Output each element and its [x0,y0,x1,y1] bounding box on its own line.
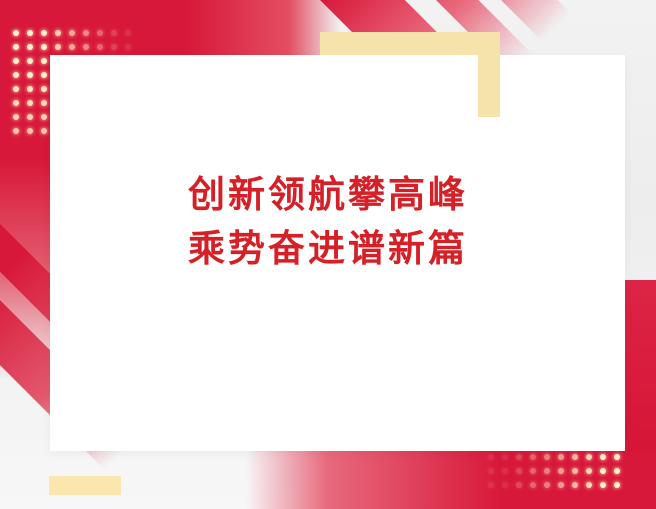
title-line-2: 乘势奋进谱新篇 [0,222,656,276]
top-left-red-bar [0,0,340,58]
gold-chip-accent [49,476,121,495]
bottom-right-red-panel [246,451,656,509]
poster-canvas: 创新领航攀高峰 乘势奋进谱新篇 [0,0,656,509]
title-line-1: 创新领航攀高峰 [0,168,656,222]
poster-title: 创新领航攀高峰 乘势奋进谱新篇 [0,168,656,276]
